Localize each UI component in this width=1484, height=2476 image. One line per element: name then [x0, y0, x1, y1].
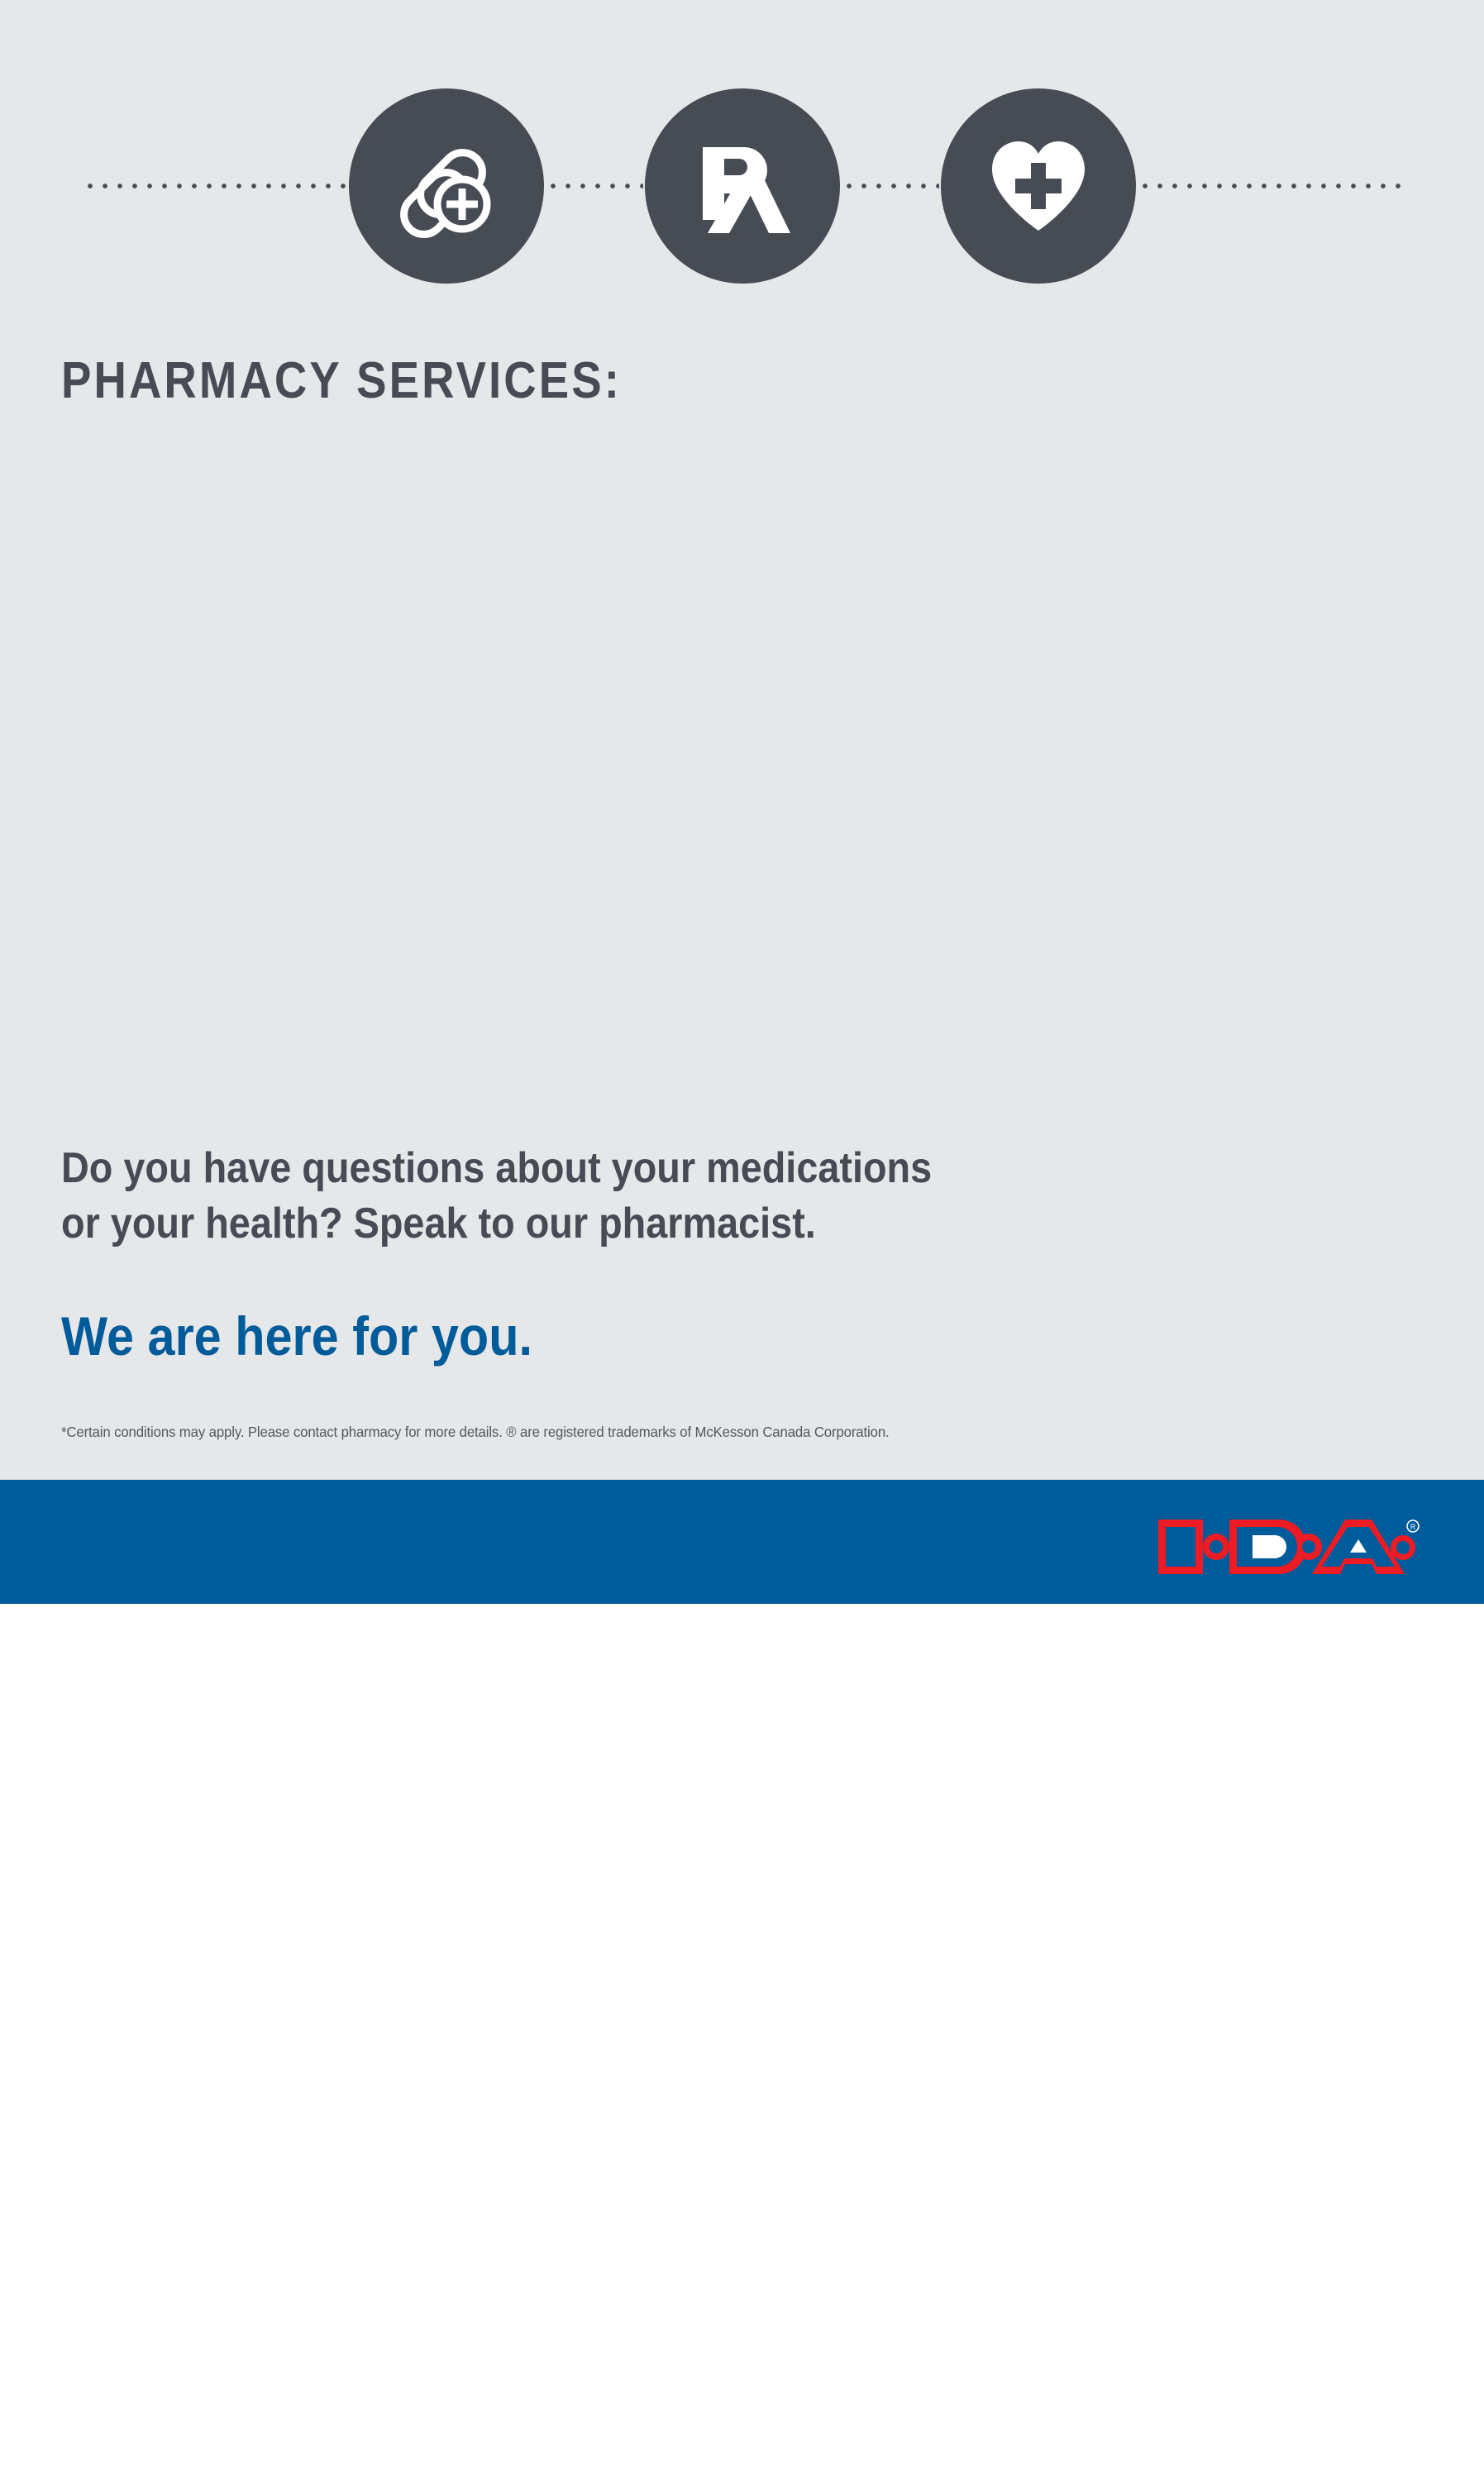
question-line-1: Do you have questions about your medicat…: [61, 1141, 1177, 1196]
call-to-action-text: We are here for you.: [61, 1305, 532, 1367]
heart-plus-icon: [941, 88, 1136, 284]
pill-capsule-plus-icon: [349, 88, 544, 284]
top-panel: PHARMACY SERVICES: Do you have questions…: [0, 0, 1484, 1480]
svg-text:R: R: [1410, 1523, 1416, 1531]
question-line-2: or your health? Speak to our pharmacist.: [61, 1196, 1177, 1252]
icon-strip: [0, 87, 1484, 285]
dotted-rule-mid-1: [546, 182, 643, 190]
disclaimer-text: *Certain conditions may apply. Please co…: [61, 1424, 1347, 1441]
store-footer: Creditview Pharmacy 11210 Creditview Roa…: [0, 1604, 1484, 2476]
rx-prescription-icon: [645, 88, 840, 284]
ida-logo: R: [1155, 1515, 1428, 1579]
dotted-rule-left: [83, 182, 347, 190]
dotted-rule-right: [1138, 182, 1402, 190]
question-copy: Do you have questions about your medicat…: [61, 1141, 1177, 1251]
pharmacy-services-heading: PHARMACY SERVICES:: [61, 351, 622, 410]
dotted-rule-mid-2: [842, 182, 939, 190]
pharmacy-flyer-page: PHARMACY SERVICES: Do you have questions…: [0, 0, 1484, 2476]
